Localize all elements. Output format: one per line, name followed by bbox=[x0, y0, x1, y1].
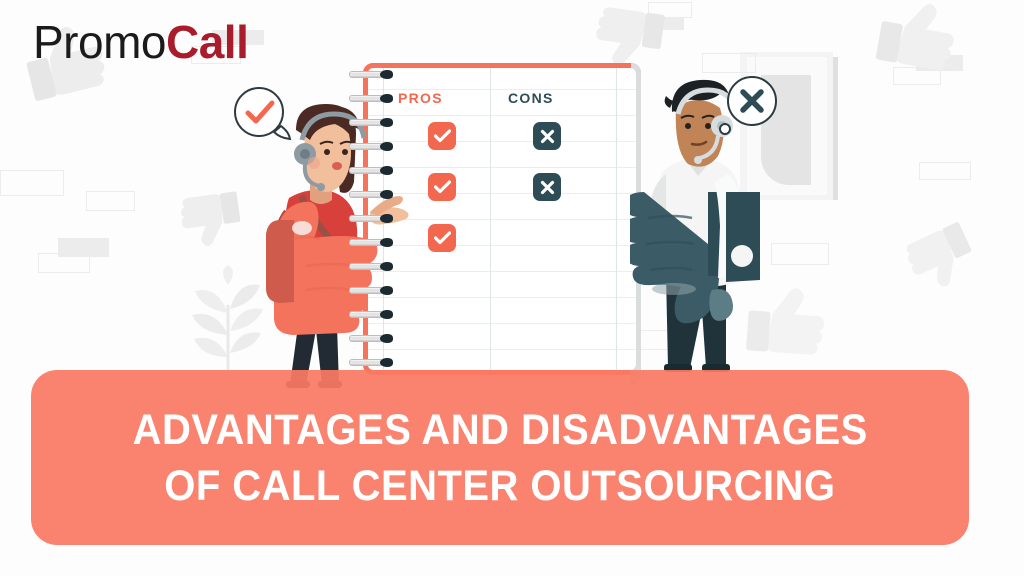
decor-rect-outline bbox=[702, 53, 756, 73]
decor-rect-outline bbox=[86, 191, 135, 211]
picture-frame-shadow bbox=[833, 57, 838, 200]
poster-canvas: PromoCall PROS CONS bbox=[0, 0, 1024, 576]
cross-icon bbox=[533, 122, 561, 150]
column-header-cons: CONS bbox=[508, 90, 554, 106]
notebook-spiral-binding bbox=[349, 70, 395, 370]
title-banner: Advantages and Disadvantages of Call Cen… bbox=[31, 370, 969, 545]
thought-bubble-cross bbox=[714, 73, 780, 146]
brand-logo[interactable]: PromoCall bbox=[33, 16, 248, 68]
decor-rect-outline bbox=[0, 170, 64, 196]
banner-title-line-1: Advantages and Disadvantages bbox=[132, 402, 867, 458]
logo-text-primary: Promo bbox=[33, 16, 166, 68]
thumbs-up-icon bbox=[874, 0, 961, 78]
banner-title-line-2: of Call Center Outsourcing bbox=[164, 458, 835, 514]
check-icon bbox=[428, 122, 456, 150]
decor-rect-outline bbox=[38, 253, 90, 273]
thumbs-down-icon bbox=[898, 216, 982, 299]
check-icon bbox=[428, 224, 456, 252]
logo-text-accent: Call bbox=[166, 16, 248, 68]
speech-bubble-check bbox=[231, 84, 293, 149]
cross-icon bbox=[533, 173, 561, 201]
decor-rect-outline bbox=[919, 162, 971, 180]
check-icon bbox=[428, 173, 456, 201]
thumbs-down-icon bbox=[176, 186, 243, 252]
